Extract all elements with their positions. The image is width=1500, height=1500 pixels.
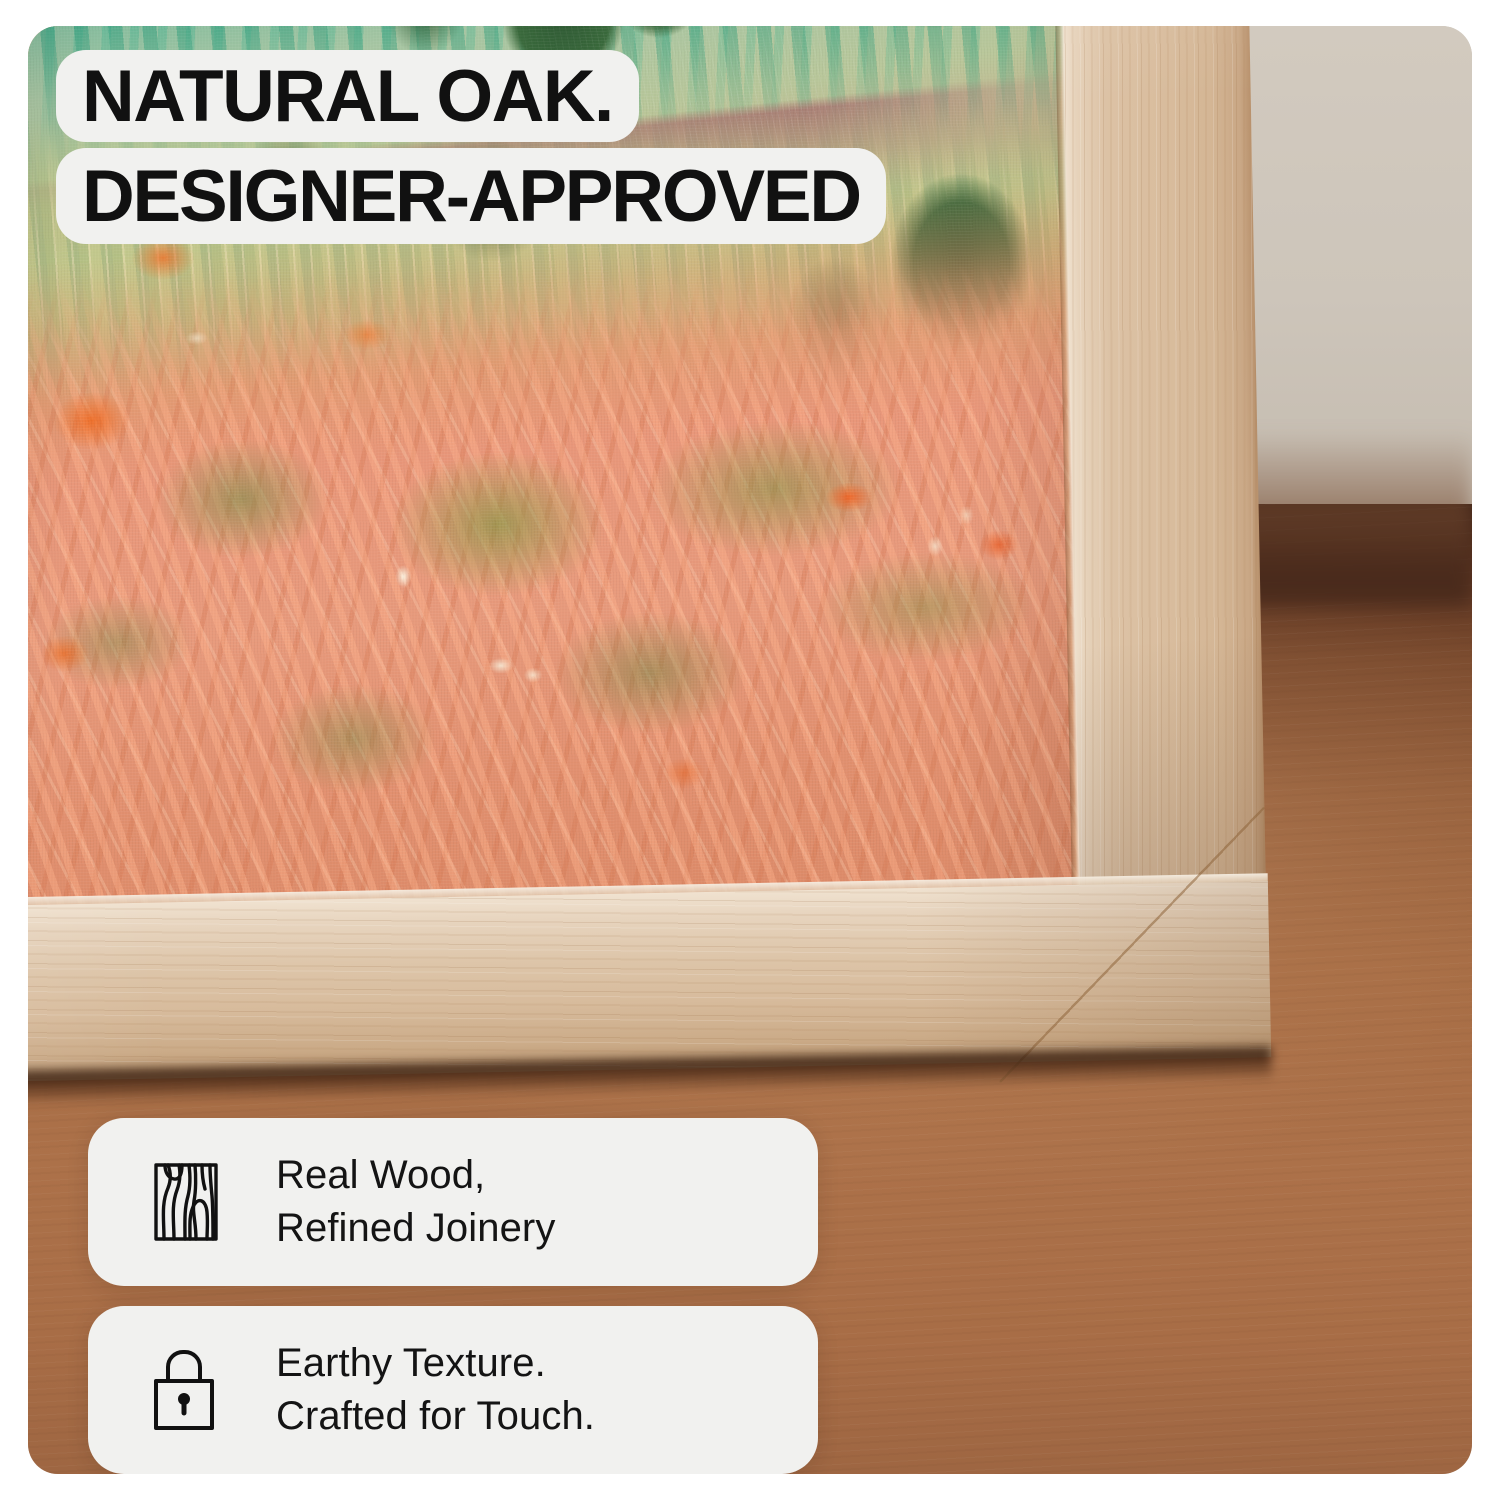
feature-2-line-1: Earthy Texture. <box>276 1341 546 1385</box>
wood-grain-icon <box>140 1156 232 1248</box>
feature-2-line-2: Crafted for Touch. <box>276 1390 595 1443</box>
headline-pill-2: DESIGNER-APPROVED <box>56 148 886 244</box>
feature-badge-real-wood: Real Wood, Refined Joinery <box>88 1118 818 1286</box>
headline-pill-1: NATURAL OAK. <box>56 50 639 142</box>
frame-mitre-joint <box>994 807 1269 1082</box>
feature-badge-text-2: Earthy Texture. Crafted for Touch. <box>276 1337 595 1443</box>
headline-line-2: DESIGNER-APPROVED <box>82 160 860 233</box>
product-photo: NATURAL OAK. DESIGNER-APPROVED <box>28 26 1472 1474</box>
product-feature-image: NATURAL OAK. DESIGNER-APPROVED <box>0 0 1500 1500</box>
headline-line-1: NATURAL OAK. <box>82 60 613 133</box>
frame-right-stile <box>1060 26 1266 935</box>
feature-1-line-1: Real Wood, <box>276 1153 485 1197</box>
padlock-icon <box>140 1344 232 1436</box>
feature-badge-text-1: Real Wood, Refined Joinery <box>276 1149 555 1255</box>
feature-badge-earthy-texture: Earthy Texture. Crafted for Touch. <box>88 1306 818 1474</box>
feature-1-line-2: Refined Joinery <box>276 1202 555 1255</box>
